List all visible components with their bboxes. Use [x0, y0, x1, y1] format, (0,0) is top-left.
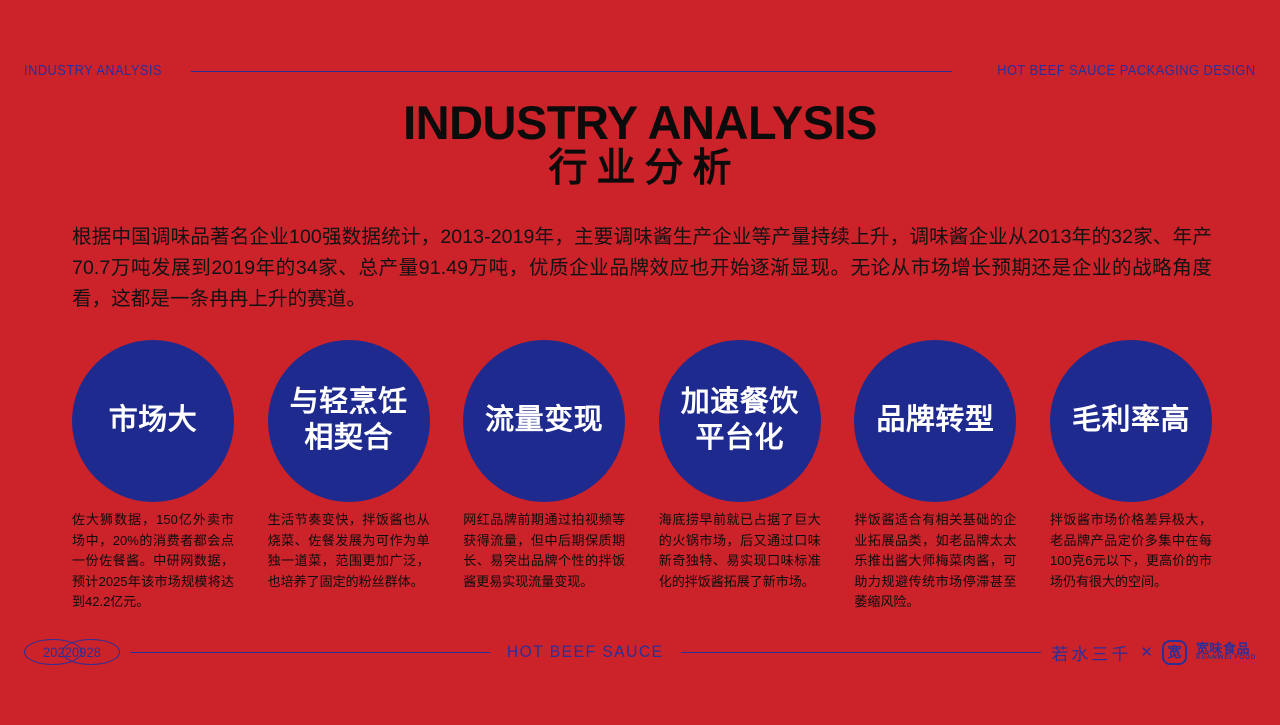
- bubble-brand-transformation: 品牌转型: [854, 340, 1016, 502]
- caption-market-size: 佐大狮数据，150亿外卖市场中，20%的消费者都会点一份佐餐酱。中研网数据，预计…: [72, 510, 234, 613]
- header-right-label: HOT BEEF SAUCE PACKAGING DESIGN: [998, 63, 1256, 79]
- footer-bar: 20220928 HOT BEEF SAUCE 若水三千 ✕ 宽 宽味食品 KU…: [24, 637, 1256, 667]
- bubble-label: 品牌转型: [876, 403, 994, 439]
- bubble-high-margin: 毛利率高: [1050, 340, 1212, 502]
- caption-brand-transformation: 拌饭酱适合有相关基础的企业拓展品类，如老品牌太太乐推出酱大师梅菜肉酱，可助力规避…: [854, 510, 1016, 613]
- caption-high-margin: 拌饭酱市场价格差异极大，老品牌产品定价多集中在每100克6元以下，更高价的市场仍…: [1050, 510, 1212, 592]
- bubble-label: 毛利率高: [1072, 403, 1190, 439]
- logo-name-chinese: 宽味食品: [1196, 642, 1256, 656]
- footer-rule-right: [681, 652, 1041, 653]
- bubble-light-cooking: 与轻烹饪 相契合: [268, 340, 430, 502]
- header-divider-rule: [191, 71, 953, 72]
- footer-rule-left: [130, 652, 490, 653]
- intro-paragraph: 根据中国调味品著名企业100强数据统计，2013-2019年，主要调味酱生产企业…: [72, 222, 1212, 315]
- logo-glyph-text: 宽: [1167, 645, 1181, 659]
- logo-name-english: KUANWEI FOOD: [1196, 655, 1256, 662]
- page-title-chinese: 行业分析: [0, 148, 1280, 191]
- bubble-market-size: 市场大: [72, 340, 234, 502]
- caption-row: 佐大狮数据，150亿外卖市场中，20%的消费者都会点一份佐餐酱。中研网数据，预计…: [72, 510, 1212, 613]
- caption-traffic-monetization: 网红品牌前期通过拍视频等获得流量，但中后期保质期长、易突出品牌个性的拌饭酱更易实…: [463, 510, 625, 592]
- brand-name-text: 若水三千: [1051, 640, 1131, 665]
- top-header-bar: INDUSTRY ANALYSIS HOT BEEF SAUCE PACKAGI…: [24, 60, 1256, 82]
- bubble-label: 加速餐饮 平台化: [681, 385, 799, 457]
- bubble-label: 市场大: [109, 403, 198, 439]
- footer-brand-lockup: 若水三千 ✕ 宽 宽味食品 KUANWEI FOOD: [1051, 640, 1256, 665]
- bubble-label: 流量变现: [485, 403, 603, 439]
- footer-date-text: 20220928: [27, 639, 117, 665]
- footer-date-badge: 20220928: [24, 639, 120, 665]
- page-title-english: INDUSTRY ANALYSIS: [0, 98, 1280, 147]
- caption-catering-platform: 海底捞早前就已占据了巨大的火锅市场，后又通过口味新奇独特、易实现口味标准化的拌饭…: [659, 510, 821, 592]
- slide-root: INDUSTRY ANALYSIS HOT BEEF SAUCE PACKAGI…: [0, 0, 1280, 725]
- bubble-label: 与轻烹饪 相契合: [290, 385, 408, 457]
- kuanwei-logo-icon: 宽: [1162, 640, 1187, 665]
- header-left-label: INDUSTRY ANALYSIS: [24, 63, 162, 79]
- bubble-catering-platform: 加速餐饮 平台化: [659, 340, 821, 502]
- logo-wordmark: 宽味食品 KUANWEI FOOD: [1196, 642, 1256, 662]
- footer-center-label: HOT BEEF SAUCE: [507, 642, 664, 662]
- brand-separator-icon: ✕: [1140, 643, 1153, 661]
- bubble-traffic-monetization: 流量变现: [463, 340, 625, 502]
- caption-light-cooking: 生活节奏变快，拌饭酱也从烧菜、佐餐发展为可作为单独一道菜，范围更加广泛，也培养了…: [268, 510, 430, 592]
- bubble-row: 市场大 与轻烹饪 相契合 流量变现 加速餐饮 平台化 品牌转型 毛利率高: [72, 340, 1212, 502]
